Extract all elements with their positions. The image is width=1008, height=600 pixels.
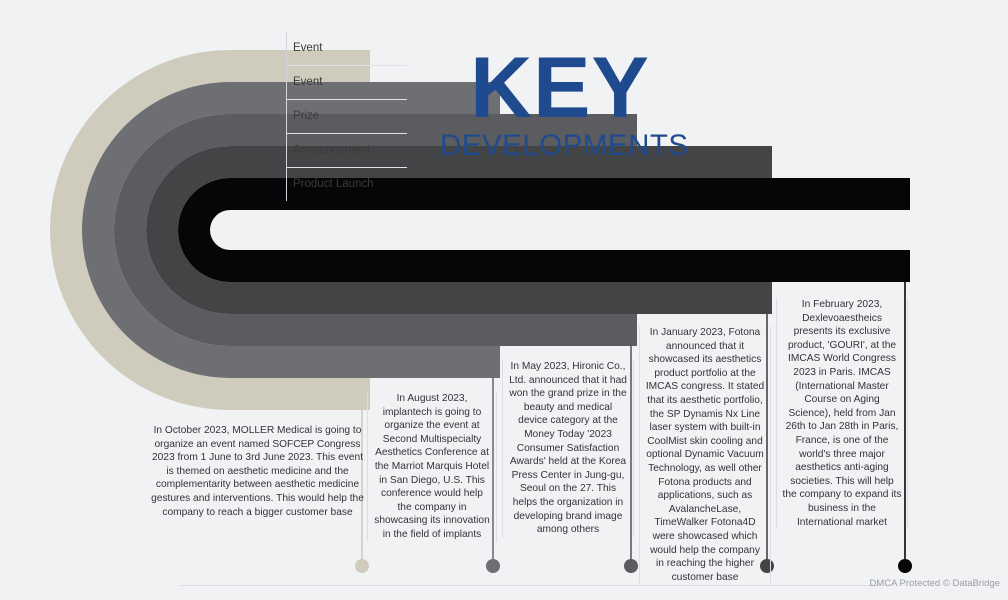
legend-label: Event [293,42,322,54]
infographic-canvas: Event Event Prize Announcement Product L… [0,0,1008,600]
page-title-main: KEY [440,48,680,130]
timeline-text: In February 2023, Dexlevoaestheics prese… [782,298,902,529]
connector-dot-5 [898,559,912,573]
timeline-text-block-2: In August 2023, implantech is going to o… [367,392,497,542]
watermark: DMCA Protected © DataBridge [869,578,1000,589]
legend-item-prize[interactable]: Prize [287,100,407,134]
legend: Event Event Prize Announcement Product L… [286,32,407,201]
legend-item-event-2[interactable]: Event [287,66,407,100]
page-title-sub: DEVELOPMENTS [440,132,680,160]
timeline-text: In August 2023, implantech is going to o… [373,392,491,542]
footer-divider [180,585,880,586]
legend-label: Product Launch [293,178,374,190]
timeline-text-block-3: In May 2023, Hironic Co., Ltd. announced… [502,360,634,537]
timeline-text-block-4: In January 2023, Fotona announced that i… [639,326,771,584]
connector-dot-3 [624,559,638,573]
timeline-text: In January 2023, Fotona announced that i… [645,326,765,584]
timeline-text: In October 2023, MOLLER Medical is going… [150,424,365,519]
connector-dot-1 [355,559,369,573]
legend-item-announcement[interactable]: Announcement [287,134,407,168]
legend-label: Event [293,76,322,88]
timeline-text-block-1: In October 2023, MOLLER Medical is going… [150,424,365,519]
legend-item-event-1[interactable]: Event [287,32,407,66]
page-title: KEY DEVELOPMENTS [440,48,680,160]
legend-label: Prize [293,110,319,122]
timeline-text: In May 2023, Hironic Co., Ltd. announced… [508,360,628,537]
connector-dot-2 [486,559,500,573]
arc-band-announcement [146,146,772,314]
legend-item-product-launch[interactable]: Product Launch [287,168,407,201]
legend-label: Announcement [293,144,370,156]
timeline-text-block-5: In February 2023, Dexlevoaestheics prese… [776,298,908,529]
